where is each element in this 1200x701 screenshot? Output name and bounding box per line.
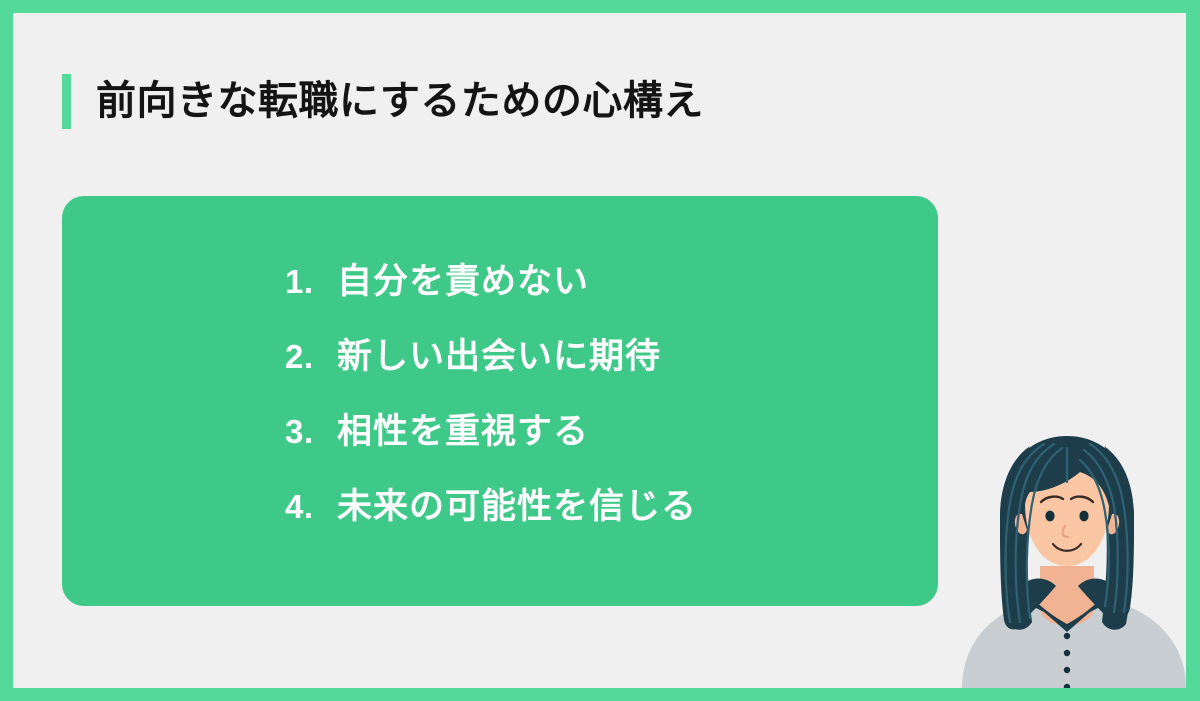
woman-illustration	[948, 426, 1186, 688]
title-label: 前向きな転職にするための心構え	[96, 81, 704, 121]
slide-root: 前向きな転職にするための心構え 1. 自分を責めない 2. 新しい出会いに期待 …	[0, 0, 1200, 701]
list-item: 4. 未来の可能性を信じる	[62, 478, 938, 553]
mindset-card: 1. 自分を責めない 2. 新しい出会いに期待 3. 相性を重視する 4. 未来…	[62, 196, 938, 606]
list-item-number: 2.	[285, 338, 337, 376]
page-title: 前向きな転職にするための心構え	[62, 73, 704, 129]
neck-shape	[1040, 566, 1094, 626]
list-item-number: 4.	[285, 488, 337, 526]
list-item-number: 1.	[285, 263, 337, 301]
mindset-list: 1. 自分を責めない 2. 新しい出会いに期待 3. 相性を重視する 4. 未来…	[62, 196, 938, 606]
shirt-button	[1064, 650, 1070, 656]
list-item-label: 自分を責めない	[337, 253, 589, 304]
eye-right	[1079, 511, 1088, 522]
list-item: 1. 自分を責めない	[62, 253, 938, 328]
title-accent-bar	[62, 74, 71, 129]
list-item: 2. 新しい出会いに期待	[62, 328, 938, 403]
shirt-button	[1064, 667, 1070, 673]
list-item: 3. 相性を重視する	[62, 403, 938, 478]
list-item-label: 新しい出会いに期待	[337, 328, 661, 379]
shirt-button	[1064, 633, 1070, 639]
list-item-number: 3.	[285, 413, 337, 451]
list-item-label: 相性を重視する	[337, 403, 589, 454]
slide-canvas: 前向きな転職にするための心構え 1. 自分を責めない 2. 新しい出会いに期待 …	[13, 13, 1186, 688]
eye-left	[1045, 511, 1054, 522]
list-item-label: 未来の可能性を信じる	[337, 478, 697, 529]
